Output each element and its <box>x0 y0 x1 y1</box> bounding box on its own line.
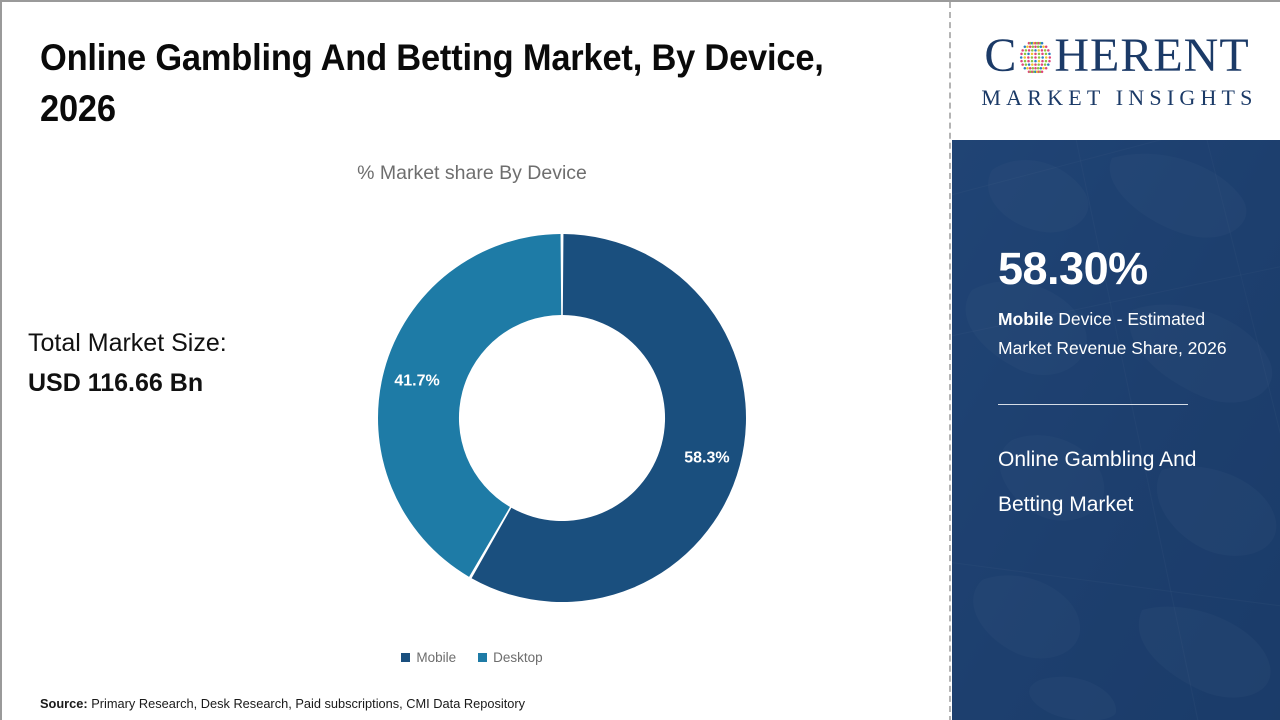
logo-subtitle: MARKET INSIGHTS <box>976 85 1257 111</box>
right-sidebar-pane: C HERENT MARKET INSIGHTS <box>952 2 1280 720</box>
highlight-stat-value: 58.30% <box>998 246 1280 291</box>
source-note: Source: Primary Research, Desk Research,… <box>40 696 525 711</box>
highlight-stat-caption: Mobile Device - Estimated Market Revenue… <box>998 305 1260 362</box>
total-market-size-label: Total Market Size: <box>28 324 227 364</box>
legend-swatch-desktop <box>478 653 487 662</box>
chart-subtitle: % Market share By Device <box>2 162 942 185</box>
panel-market-name: Online Gambling And Betting Market <box>998 437 1248 527</box>
highlight-panel: 58.30% Mobile Device - Estimated Market … <box>952 140 1280 720</box>
legend-label-desktop: Desktop <box>493 650 543 665</box>
slice-label-mobile: 58.3% <box>684 450 729 467</box>
total-market-size: Total Market Size: USD 116.66 Bn <box>28 324 227 403</box>
logo-wordmark-row: C HERENT <box>984 32 1249 80</box>
panel-content: 58.30% Mobile Device - Estimated Market … <box>952 246 1280 527</box>
chart-legend: Mobile Desktop <box>2 650 942 665</box>
source-label: Source: <box>40 696 88 711</box>
globe-dots-icon <box>1018 40 1053 75</box>
slice-label-desktop: 41.7% <box>394 372 439 389</box>
infographic-canvas: Online Gambling And Betting Market, By D… <box>0 0 1280 720</box>
legend-item-mobile[interactable]: Mobile <box>401 650 456 665</box>
donut-chart: 58.3% 41.7% <box>374 230 750 606</box>
page-title: Online Gambling And Betting Market, By D… <box>40 32 849 134</box>
legend-label-mobile: Mobile <box>416 650 456 665</box>
logo-word-herent: HERENT <box>1054 32 1249 80</box>
donut-chart-svg: 58.3% 41.7% <box>374 230 750 606</box>
total-market-size-value: USD 116.66 Bn <box>28 364 227 404</box>
source-value: Primary Research, Desk Research, Paid su… <box>91 696 525 711</box>
legend-swatch-mobile <box>401 653 410 662</box>
left-content-pane: Online Gambling And Betting Market, By D… <box>2 2 950 720</box>
highlight-stat-caption-bold: Mobile <box>998 309 1053 329</box>
logo-letter-c: C <box>984 32 1017 80</box>
brand-logo: C HERENT MARKET INSIGHTS <box>952 2 1280 140</box>
panel-divider-rule <box>998 404 1188 405</box>
donut-slices <box>378 234 746 602</box>
legend-item-desktop[interactable]: Desktop <box>478 650 543 665</box>
vertical-dashed-divider <box>949 2 951 720</box>
